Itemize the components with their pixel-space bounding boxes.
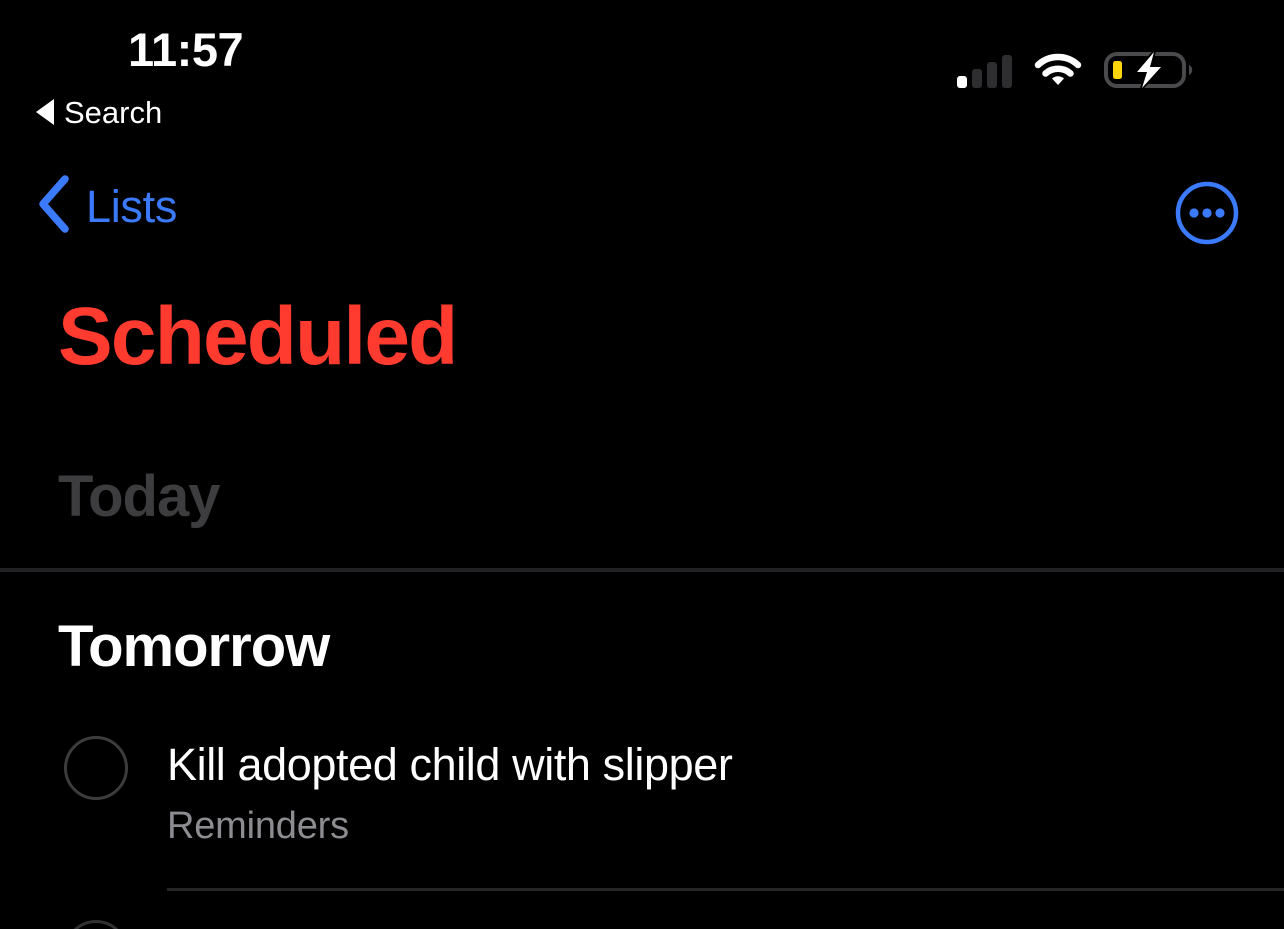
section-divider	[0, 568, 1284, 572]
section-header-today: Today	[58, 468, 220, 526]
navigation-bar: Lists	[0, 160, 1284, 260]
page-title: Scheduled	[58, 296, 456, 378]
back-to-lists-button[interactable]: Lists	[32, 164, 177, 248]
reminder-title: Kill adopted child with slipper	[167, 740, 732, 790]
back-button-label: Lists	[86, 184, 177, 229]
reminders-scheduled-screen: 11:57	[0, 0, 1284, 929]
section-header-tomorrow: Tomorrow	[58, 618, 329, 676]
status-bar-time: 11:57	[128, 26, 243, 73]
chevron-left-icon	[32, 173, 74, 240]
reminder-text-group: Kill adopted child with slipper Reminder…	[167, 740, 732, 848]
ellipsis-circle-icon[interactable]	[1174, 180, 1240, 246]
battery-charging-icon	[1104, 50, 1196, 95]
back-to-search-button[interactable]: Search	[36, 92, 162, 132]
status-bar: 11:57	[0, 0, 1284, 100]
wifi-icon	[1034, 52, 1082, 93]
back-triangle-icon	[36, 99, 54, 125]
circle-unchecked-icon-next-row[interactable]	[64, 920, 128, 929]
row-separator	[167, 888, 1284, 891]
cellular-signal-icon	[957, 56, 1012, 88]
status-bar-indicators	[957, 52, 1196, 92]
reminder-list-name: Reminders	[167, 806, 732, 848]
back-to-app-label: Search	[64, 97, 162, 128]
circle-unchecked-icon[interactable]	[64, 736, 128, 800]
